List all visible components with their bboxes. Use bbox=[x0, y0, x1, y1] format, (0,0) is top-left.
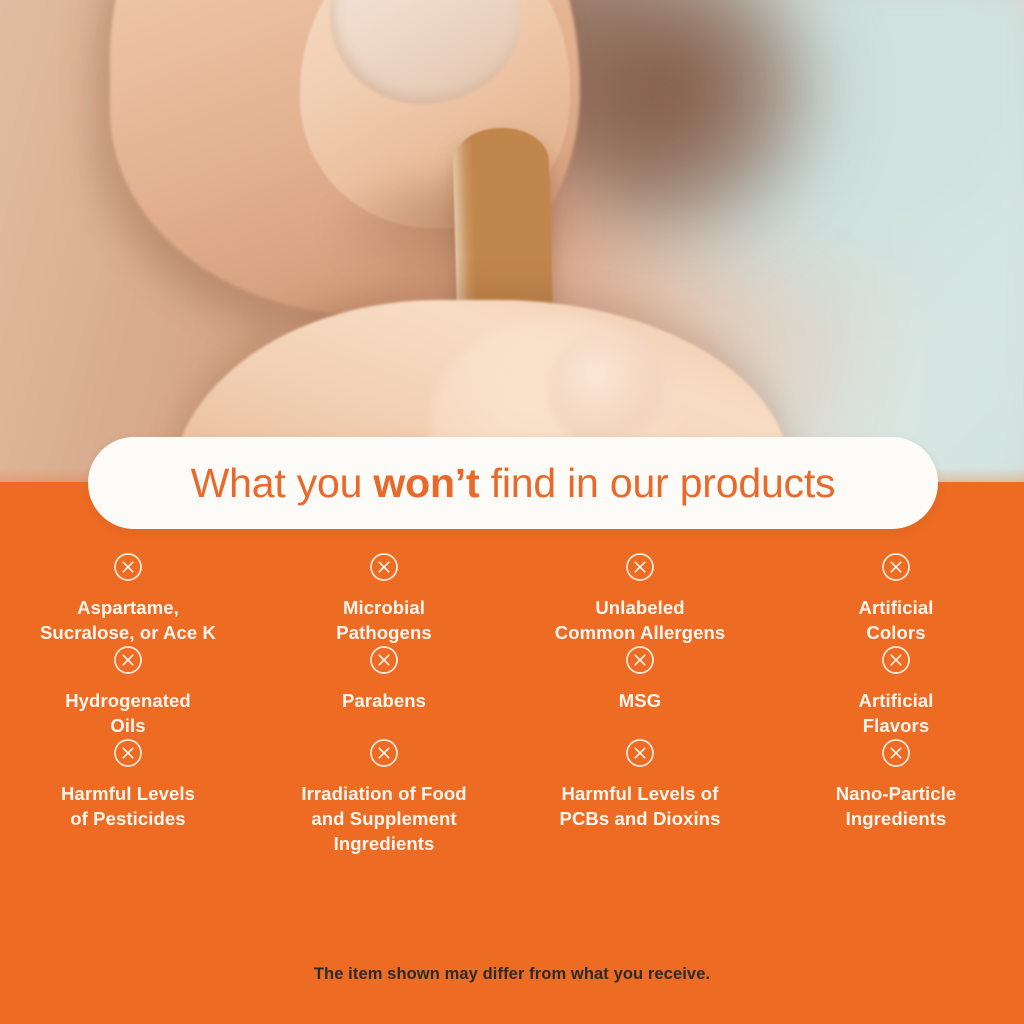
circle-x-icon bbox=[369, 738, 399, 768]
circle-x-icon bbox=[625, 645, 655, 675]
circle-x-icon bbox=[881, 738, 911, 768]
exclusion-item: Unlabeled Common Allergens bbox=[512, 552, 768, 645]
footer: The item shown may differ from what you … bbox=[0, 965, 1024, 984]
exclusion-item: Irradiation of Food and Supplement Ingre… bbox=[256, 738, 512, 856]
exclusion-item: Hydrogenated Oils bbox=[0, 645, 256, 738]
exclusion-label: MSG bbox=[619, 688, 661, 713]
exclusion-label: Parabens bbox=[342, 688, 426, 713]
exclusion-label: Harmful Levels of PCBs and Dioxins bbox=[560, 781, 721, 831]
title-part-before: What you bbox=[191, 460, 374, 506]
exclusion-label: Irradiation of Food and Supplement Ingre… bbox=[301, 781, 466, 856]
circle-x-icon bbox=[881, 645, 911, 675]
title-emphasis: won’t bbox=[373, 460, 479, 506]
exclusion-label: Nano-Particle Ingredients bbox=[836, 781, 957, 831]
exclusion-item: Microbial Pathogens bbox=[256, 552, 512, 645]
infographic-canvas: What you won’t find in our products Aspa… bbox=[0, 0, 1024, 1024]
title-pill: What you won’t find in our products bbox=[88, 437, 938, 529]
exclusions-grid: Aspartame, Sucralose, or Ace K Microbial… bbox=[0, 552, 1024, 856]
circle-x-icon bbox=[625, 552, 655, 582]
disclaimer-text: The item shown may differ from what you … bbox=[314, 965, 710, 984]
circle-x-icon bbox=[369, 552, 399, 582]
circle-x-icon bbox=[113, 738, 143, 768]
page-title: What you won’t find in our products bbox=[191, 460, 836, 507]
circle-x-icon bbox=[881, 552, 911, 582]
exclusion-item: Parabens bbox=[256, 645, 512, 738]
exclusion-label: Microbial Pathogens bbox=[336, 595, 431, 645]
circle-x-icon bbox=[625, 738, 655, 768]
exclusion-item: Artificial Flavors bbox=[768, 645, 1024, 738]
exclusion-label: Hydrogenated Oils bbox=[65, 688, 191, 738]
exclusion-item: Artificial Colors bbox=[768, 552, 1024, 645]
finger-nail-shape bbox=[548, 330, 668, 448]
exclusion-item: Aspartame, Sucralose, or Ace K bbox=[0, 552, 256, 645]
exclusion-label: Artificial Colors bbox=[858, 595, 933, 645]
circle-x-icon bbox=[369, 645, 399, 675]
title-part-after: find in our products bbox=[479, 460, 835, 506]
circle-x-icon bbox=[113, 645, 143, 675]
exclusion-label: Harmful Levels of Pesticides bbox=[61, 781, 195, 831]
exclusion-item: Harmful Levels of PCBs and Dioxins bbox=[512, 738, 768, 856]
hero-photo bbox=[0, 0, 1024, 486]
exclusion-label: Aspartame, Sucralose, or Ace K bbox=[40, 595, 216, 645]
circle-x-icon bbox=[113, 552, 143, 582]
exclusion-label: Unlabeled Common Allergens bbox=[555, 595, 726, 645]
exclusion-item: Nano-Particle Ingredients bbox=[768, 738, 1024, 856]
exclusion-item: MSG bbox=[512, 645, 768, 738]
exclusion-item: Harmful Levels of Pesticides bbox=[0, 738, 256, 856]
exclusion-label: Artificial Flavors bbox=[858, 688, 933, 738]
